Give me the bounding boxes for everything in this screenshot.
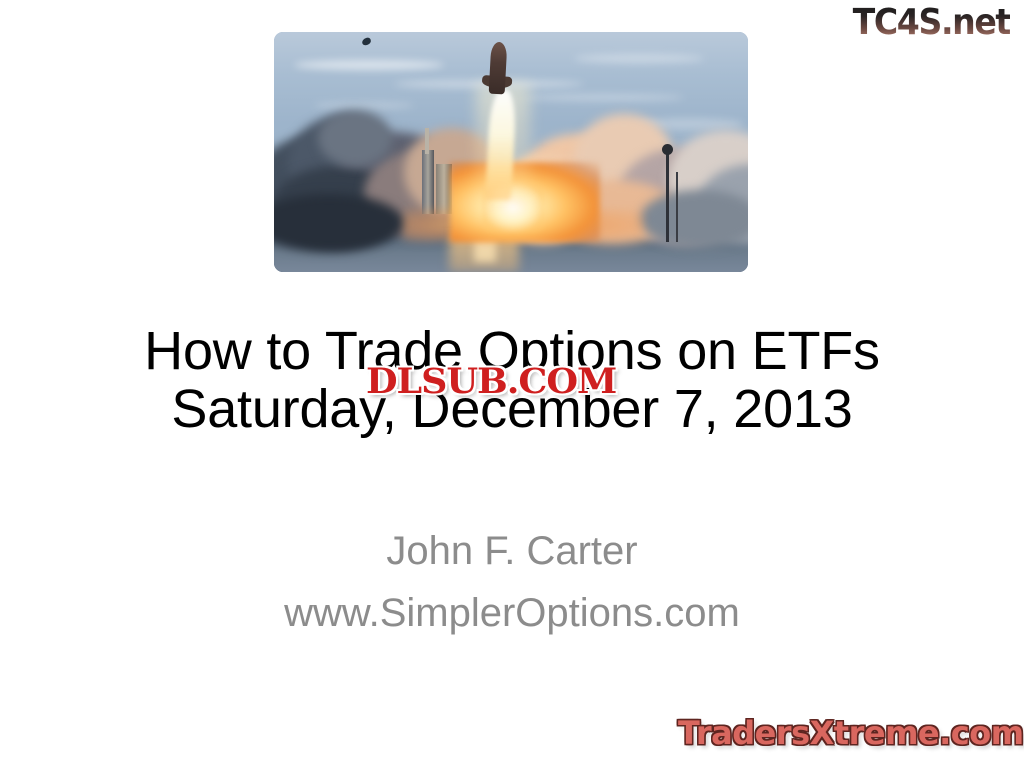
- lightning-mast-head: [662, 144, 673, 155]
- smoke-puff: [318, 110, 392, 166]
- watermark-tradersxtreme: TradersXtreme.com: [678, 714, 1024, 752]
- launch-tower-antenna: [425, 128, 429, 154]
- presenter-name: John F. Carter: [0, 520, 1024, 582]
- watermark-tc4s: TC4S.net: [853, 2, 1010, 43]
- cloud-wisp: [574, 54, 704, 63]
- presenter-website: www.SimplerOptions.com: [0, 582, 1024, 644]
- cloud-wisp: [524, 94, 684, 101]
- lightning-mast-secondary: [676, 172, 678, 242]
- cloud-wisp: [314, 102, 414, 109]
- smoke-puff: [640, 190, 748, 248]
- cloud-wisp: [294, 60, 444, 70]
- watermark-dlsub: DLSUB.COM: [366, 361, 616, 402]
- space-shuttle-launch-photo: [274, 32, 748, 272]
- slide-subtitle: John F. Carter www.SimplerOptions.com: [0, 520, 1024, 644]
- lightning-mast: [666, 150, 669, 242]
- launch-tower: [422, 150, 434, 214]
- presentation-slide: How to Trade Options on ETFs Saturday, D…: [0, 0, 1024, 768]
- shuttle-orbiter: [489, 42, 508, 95]
